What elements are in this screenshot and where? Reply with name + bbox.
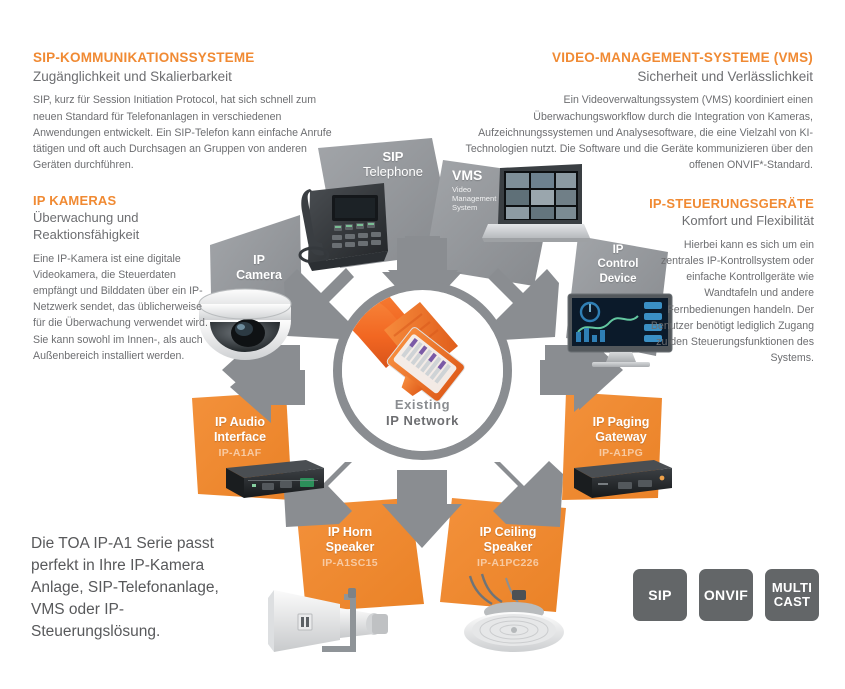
node-ip-audio-interface-label: IP Audio Interface: [200, 415, 280, 445]
section-control-title: IP-STEUERUNGSGERÄTE: [640, 196, 814, 212]
badge-sip-label: SIP: [648, 588, 671, 603]
badge-onvif-label: ONVIF: [704, 588, 748, 603]
summary-blurb: Die TOA IP-A1 Serie passt perfekt in Ihr…: [31, 533, 246, 643]
ip-audio-interface-image: [222, 456, 328, 504]
hub-label-line2: IP Network: [352, 413, 493, 429]
ip-paging-gateway-image: [570, 456, 676, 504]
section-cameras-title: IP KAMERAS: [33, 193, 209, 209]
vms-laptop-image: [482, 162, 592, 250]
section-cameras: IP KAMERAS Überwachung und Reaktionsfähi…: [33, 193, 209, 364]
ip-ceiling-speaker-image: [452, 572, 582, 662]
section-vms-title: VIDEO-MANAGEMENT-SYSTEME (VMS): [458, 50, 813, 67]
node-ip-ceiling-speaker-model: IP-A1PC226: [462, 557, 554, 569]
section-sip: SIP-KOMMUNIKATIONSSYSTEME Zugänglichkeit…: [33, 50, 339, 173]
section-sip-title: SIP-KOMMUNIKATIONSSYSTEME: [33, 50, 339, 67]
section-cameras-subtitle: Überwachung und Reaktionsfähigkeit: [33, 210, 209, 244]
sip-telephone-image: [288, 177, 398, 272]
section-vms-subtitle: Sicherheit und Verlässlichkeit: [458, 68, 813, 86]
ip-horn-speaker-image: [262, 574, 412, 660]
node-ip-horn-speaker-label: IP Horn Speaker: [310, 525, 390, 555]
section-control-subtitle: Komfort und Flexibilität: [640, 213, 814, 230]
node-ip-paging-gateway-label: IP Paging Gateway: [578, 415, 664, 445]
section-vms: VIDEO-MANAGEMENT-SYSTEME (VMS) Sicherhei…: [458, 50, 813, 173]
badge-onvif: ONVIF: [699, 569, 753, 621]
section-sip-subtitle: Zugänglichkeit und Skalierbarkeit: [33, 68, 339, 86]
section-cameras-body: Eine IP-Kamera ist eine digitale Videoka…: [33, 251, 209, 364]
hub-label: Existing IP Network: [352, 397, 493, 430]
node-ip-horn-speaker-model: IP-A1SC15: [310, 557, 390, 569]
badge-multicast: MULTICAST: [765, 569, 819, 621]
infographic-canvas: Existing IP Network IP Camera: [0, 0, 845, 689]
section-vms-body: Ein Videoverwaltungssystem (VMS) koordin…: [458, 92, 813, 172]
badge-multicast-label: MULTICAST: [772, 581, 812, 608]
section-control-body: Hierbei kann es sich um ein zentrales IP…: [640, 237, 814, 366]
hub-label-line1: Existing: [352, 397, 493, 413]
standards-badges: SIP ONVIF MULTICAST: [633, 569, 819, 621]
node-sip-telephone-label: SIP Telephone: [350, 149, 436, 180]
section-sip-body: SIP, kurz für Session Initiation Protoco…: [33, 92, 339, 172]
badge-sip: SIP: [633, 569, 687, 621]
node-ip-ceiling-speaker-label: IP Ceiling Speaker: [462, 525, 554, 555]
section-control: IP-STEUERUNGSGERÄTE Komfort und Flexibil…: [640, 196, 814, 366]
